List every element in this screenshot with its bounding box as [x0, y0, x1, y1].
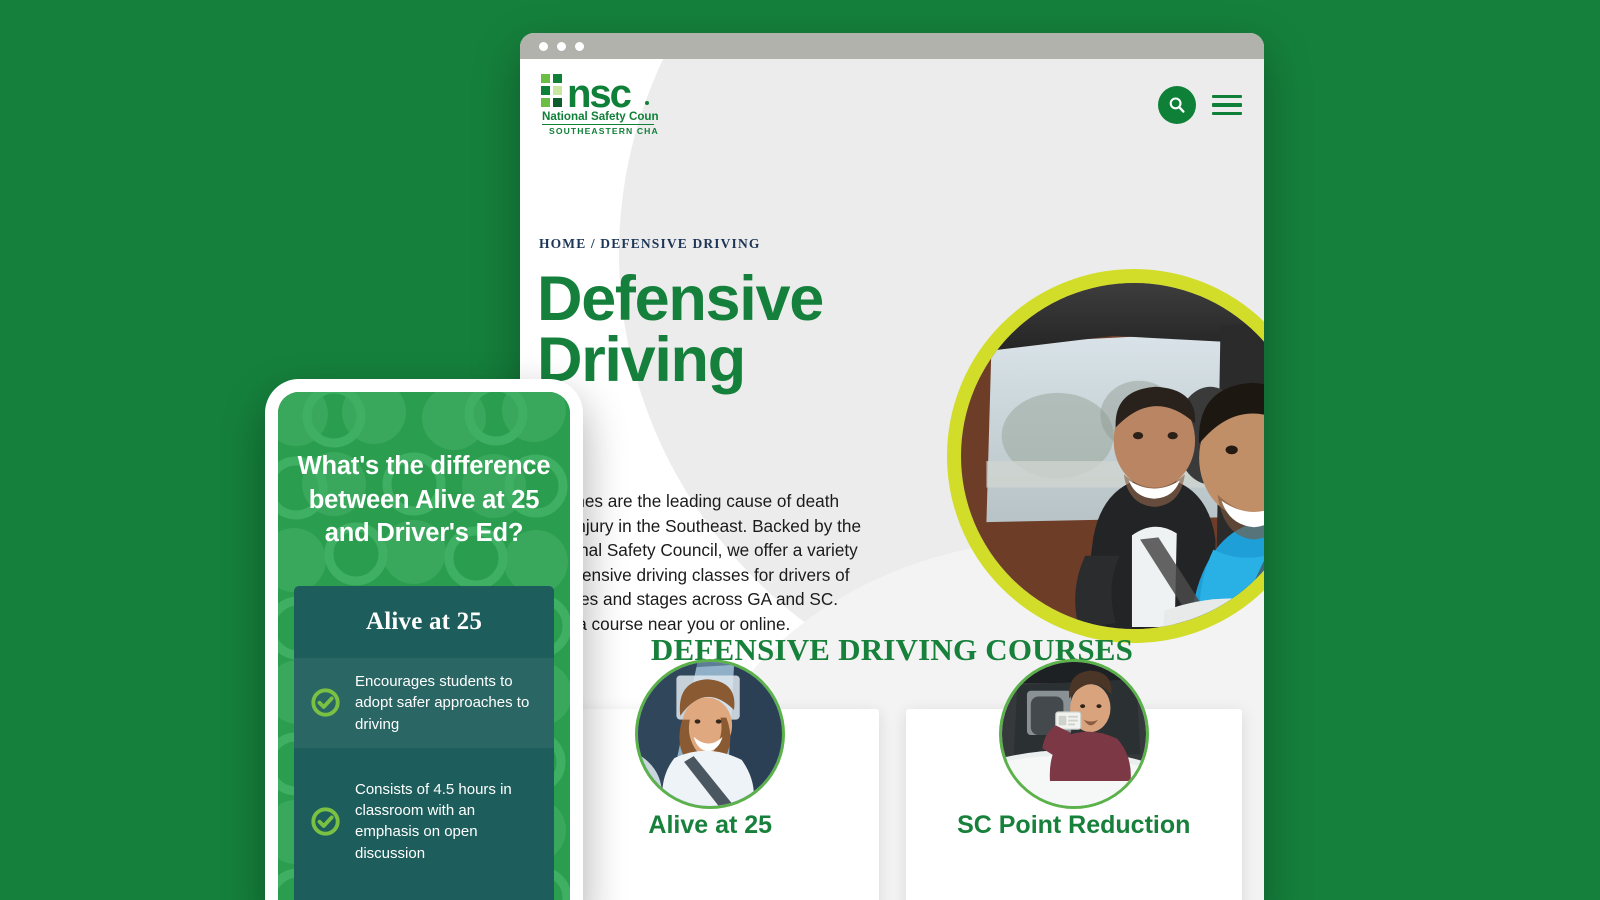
page-title: Defensive Driving — [537, 269, 867, 391]
svg-text:SOUTHEASTERN CHAPTER: SOUTHEASTERN CHAPTER — [549, 126, 659, 136]
check-circle-icon — [310, 687, 341, 718]
hero-photo-illustration — [961, 283, 1264, 629]
phone-question-heading: What's the difference between Alive at 2… — [278, 392, 570, 551]
course-photo-sc-point-reduction — [1002, 662, 1146, 806]
list-item: Encourages students to adopt safer appro… — [294, 658, 554, 748]
course-thumbnail — [635, 659, 785, 809]
hero-photo — [947, 269, 1264, 643]
list-item: Consists of 4.5 hours in classroom with … — [294, 766, 554, 877]
course-thumbnail — [999, 659, 1149, 809]
website-page: nsc National Safety Council SOUTHEASTERN… — [520, 59, 1264, 900]
svg-text:National Safety Council: National Safety Council — [542, 110, 659, 123]
browser-window-mockup: nsc National Safety Council SOUTHEASTERN… — [520, 33, 1264, 900]
courses-card-grid: Alive at 25 — [542, 709, 1242, 900]
phone-mockup: What's the difference between Alive at 2… — [265, 379, 583, 900]
comparison-card-title: Alive at 25 — [294, 608, 554, 636]
site-header: nsc National Safety Council SOUTHEASTERN… — [520, 59, 1264, 151]
breadcrumb[interactable]: HOME / DEFENSIVE DRIVING — [539, 236, 761, 252]
check-circle-icon — [310, 806, 341, 837]
hamburger-menu-icon[interactable] — [1212, 95, 1242, 115]
nsc-logo[interactable]: nsc National Safety Council SOUTHEASTERN… — [539, 70, 659, 141]
search-icon — [1168, 96, 1186, 114]
browser-chrome-bar — [520, 33, 1264, 59]
comparison-card: Alive at 25 Encourages students to adopt… — [294, 586, 554, 900]
hero-body-text: Crashes are the leading cause of death a… — [539, 489, 869, 637]
course-card[interactable]: SC Point Reduction — [906, 709, 1243, 900]
window-dot-maximize[interactable] — [575, 42, 584, 51]
header-actions — [1158, 86, 1242, 124]
course-title: SC Point Reduction — [906, 811, 1243, 840]
course-card[interactable]: Alive at 25 — [542, 709, 879, 900]
course-title: Alive at 25 — [542, 811, 879, 840]
courses-heading: DEFENSIVE DRIVING COURSES — [520, 632, 1264, 668]
window-dot-minimize[interactable] — [557, 42, 566, 51]
phone-screen: What's the difference between Alive at 2… — [278, 392, 570, 900]
nsc-logo-svg: nsc National Safety Council SOUTHEASTERN… — [539, 70, 659, 136]
course-photo-alive-at-25 — [638, 662, 782, 806]
window-dot-close[interactable] — [539, 42, 548, 51]
search-button[interactable] — [1158, 86, 1196, 124]
list-item-text: Consists of 4.5 hours in classroom with … — [355, 779, 538, 864]
list-item-text: Encourages students to adopt safer appro… — [355, 671, 538, 735]
